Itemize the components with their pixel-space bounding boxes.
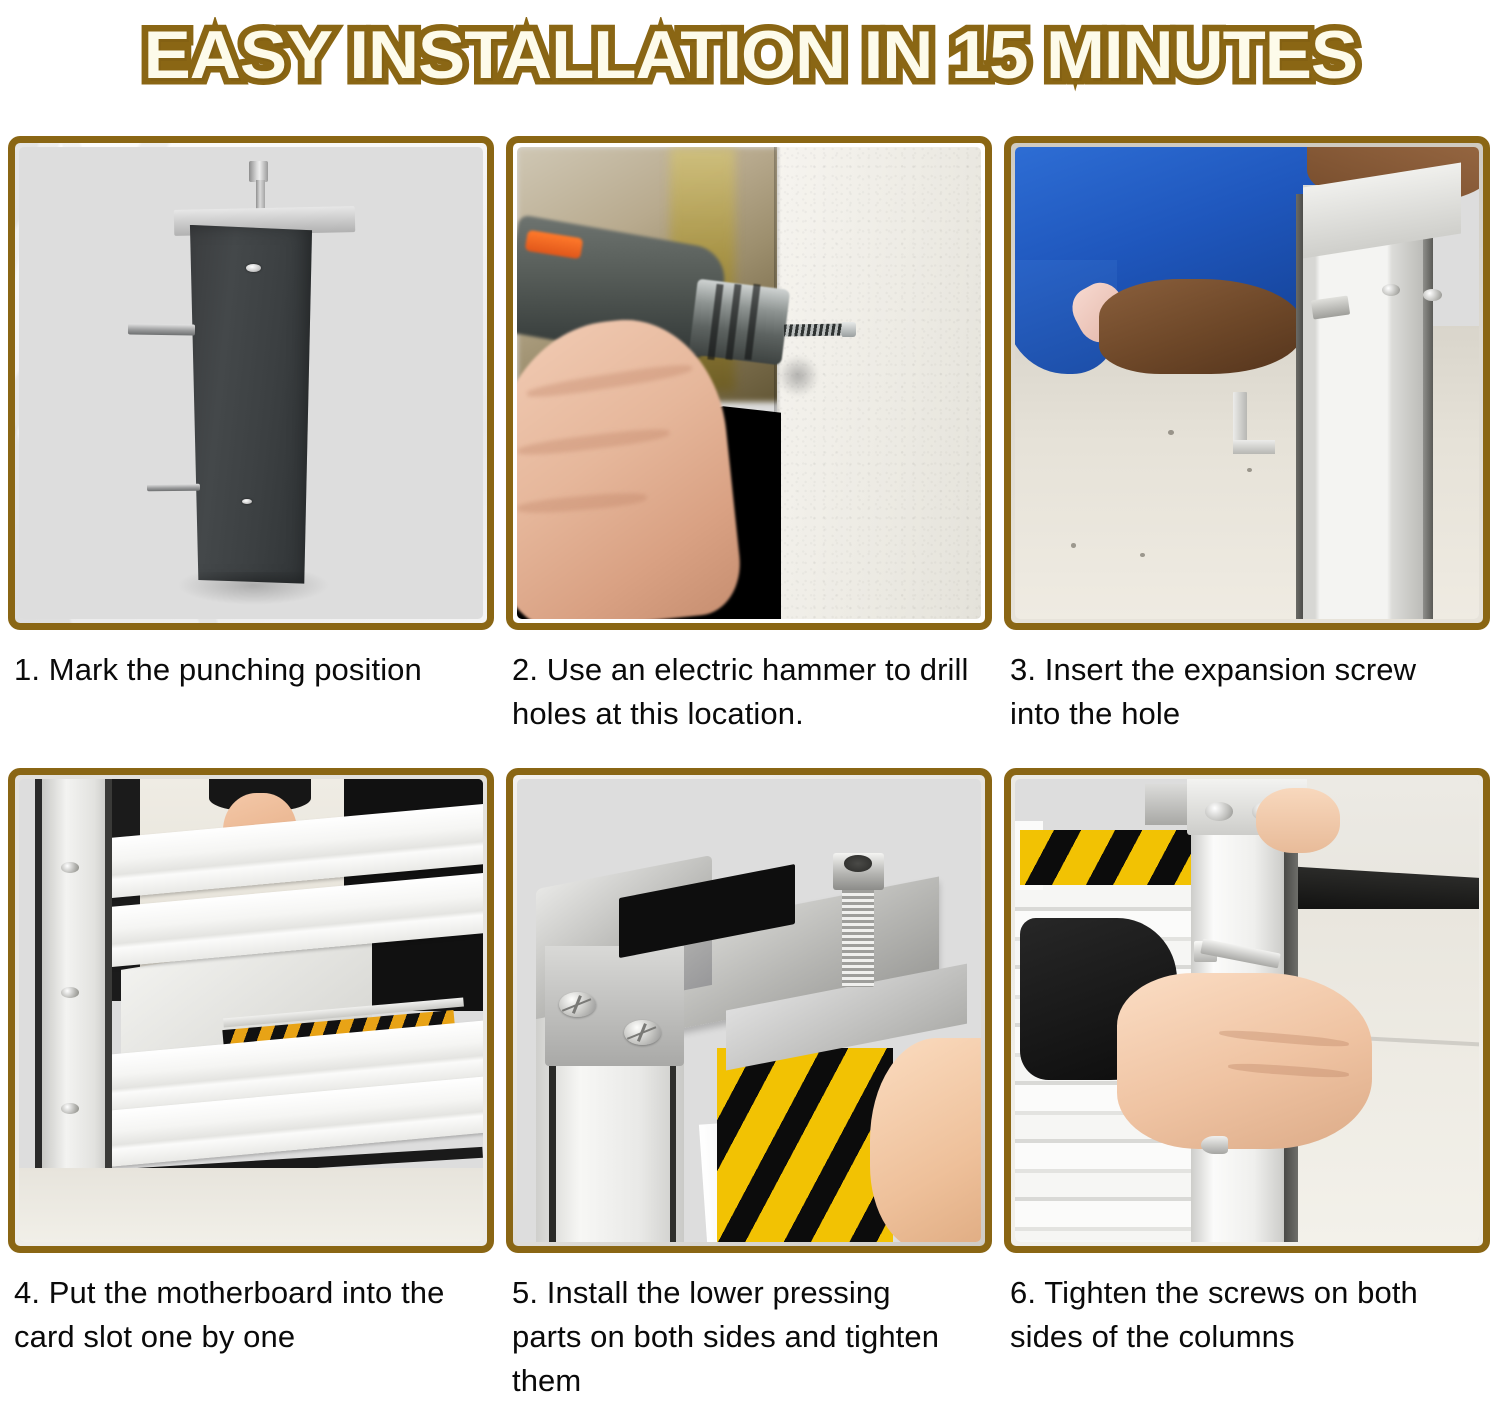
step-caption-6: 6. Tighten the screws on both sides of t… — [1010, 1271, 1480, 1359]
step-caption-1: 1. Mark the punching position — [14, 648, 492, 692]
step-image-5-inner — [517, 779, 981, 1242]
drill-bit — [784, 323, 849, 336]
step-image-3 — [1004, 136, 1490, 630]
drill-dust — [777, 355, 819, 397]
step-image-1-inner — [19, 147, 483, 619]
step-caption-3: 3. Insert the expansion screw into the h… — [1010, 648, 1460, 736]
step-image-2 — [506, 136, 992, 630]
hazard-stripe — [1020, 830, 1196, 886]
step-caption-2: 2. Use an electric hammer to drill holes… — [512, 648, 982, 736]
step-image-1 — [8, 136, 494, 630]
column-screw — [1423, 289, 1442, 301]
allen-key-icon — [1233, 392, 1247, 453]
worker-left-arm — [1099, 279, 1303, 373]
step-image-6 — [1004, 768, 1490, 1253]
screw-lower — [1201, 1136, 1229, 1155]
floor-speck — [1140, 553, 1145, 557]
column-screw — [1382, 284, 1401, 296]
hand-upper — [1256, 788, 1340, 853]
marking-pin-upper — [128, 323, 195, 335]
drill-bit-tip — [842, 322, 856, 338]
step-caption-5: 5. Install the lower pressing parts on b… — [512, 1271, 962, 1403]
step-image-6-inner — [1015, 779, 1479, 1242]
step-image-5 — [506, 768, 992, 1253]
hazard-stripe — [717, 1048, 893, 1242]
steps-grid: 1. Mark the punching position — [0, 0, 1500, 1403]
marking-pin-lower — [147, 484, 200, 492]
step-cell-2: 2. Use an electric hammer to drill holes… — [506, 136, 992, 736]
column-cap-screw — [1205, 802, 1233, 821]
step-cell-4: 4. Put the motherboard into the card slo… — [8, 768, 494, 1398]
step-caption-4: 4. Put the motherboard into the card slo… — [14, 1271, 472, 1359]
step-cell-6: 6. Tighten the screws on both sides of t… — [1004, 768, 1490, 1398]
post-shadow — [177, 572, 330, 605]
step-cell-1: 1. Mark the punching position — [8, 136, 494, 736]
floor-speck — [1071, 543, 1076, 547]
step-image-3-inner — [1015, 147, 1479, 619]
hand — [1117, 973, 1372, 1149]
step-image-2-inner — [517, 147, 981, 619]
column-side-clip — [1145, 784, 1191, 826]
step-cell-3: 3. Insert the expansion screw into the h… — [1004, 136, 1490, 736]
column-right-edge — [105, 779, 112, 1177]
step-image-4 — [8, 768, 494, 1253]
floor-speck — [1247, 468, 1252, 472]
floor-speck — [1168, 430, 1174, 435]
column-right-edge — [1423, 194, 1432, 619]
bolt-socket-hole — [844, 855, 872, 871]
bracket-screw — [624, 1020, 661, 1045]
step-cell-5: 5. Install the lower pressing parts on b… — [506, 768, 992, 1398]
ground-surface — [19, 1168, 483, 1242]
step-image-4-inner — [19, 779, 483, 1242]
bolt-thread — [842, 881, 874, 987]
post-body — [186, 225, 316, 584]
